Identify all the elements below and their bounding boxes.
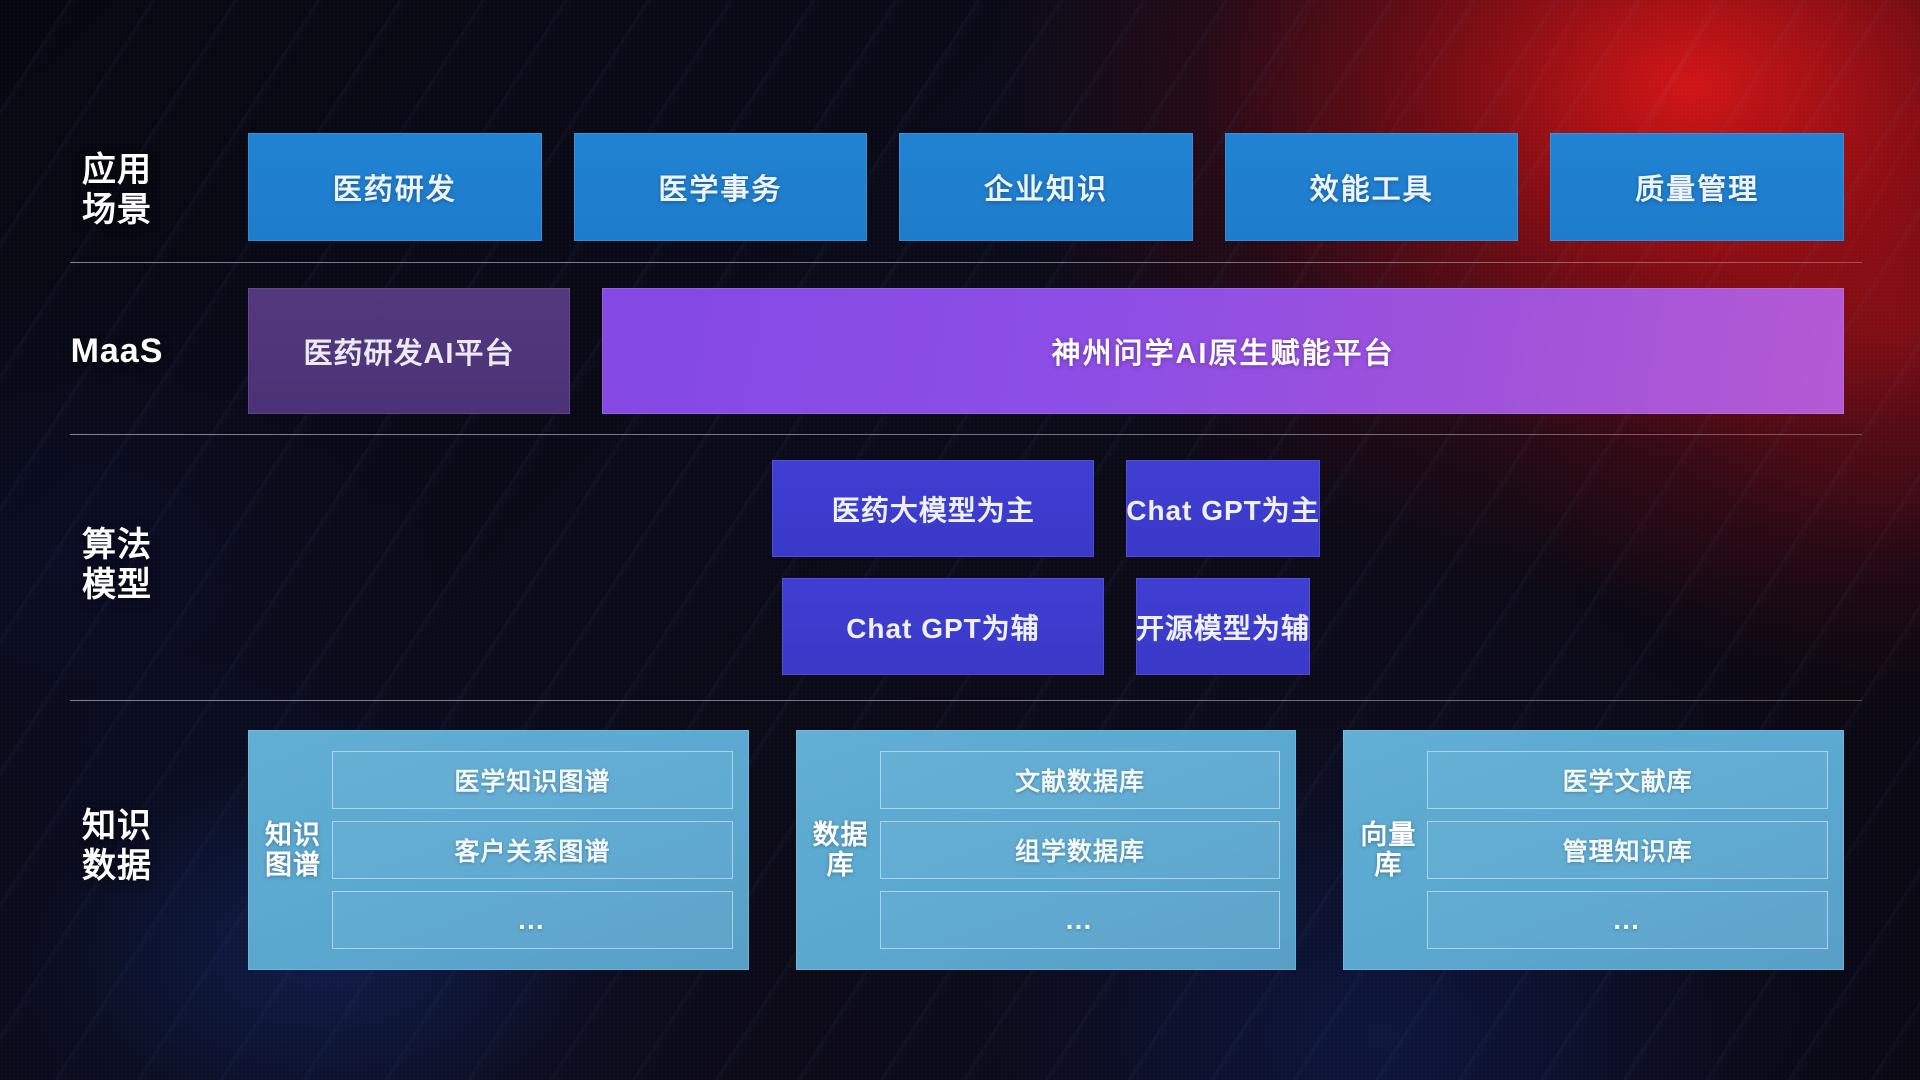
knowledge-item-vector-store-more[interactable]: …: [1427, 891, 1828, 949]
app-card-drug-rd[interactable]: 医药研发: [248, 133, 542, 241]
app-card-quality-management[interactable]: 质量管理: [1550, 133, 1844, 241]
knowledge-item-medical-knowledge-graph[interactable]: 医学知识图谱: [332, 751, 733, 809]
row-label-knowledge-data-line2: 数据: [32, 846, 202, 886]
divider-algo-knowledge: [70, 700, 1862, 701]
knowledge-item-omics-database[interactable]: 组学数据库: [880, 821, 1281, 879]
divider-apps-maas: [70, 262, 1862, 263]
row-label-applications-line1: 应用: [32, 150, 202, 190]
knowledge-item-management-knowledge-store[interactable]: 管理知识库: [1427, 821, 1828, 879]
algo-card-chatgpt-secondary[interactable]: Chat GPT为辅: [782, 578, 1104, 675]
row-label-applications-line2: 场景: [32, 190, 202, 230]
row-label-knowledge-data-line1: 知识: [32, 806, 202, 846]
maas-card-drug-rd-ai-platform[interactable]: 医药研发AI平台: [248, 288, 570, 414]
app-card-efficiency-tools[interactable]: 效能工具: [1225, 133, 1519, 241]
app-card-medical-affairs[interactable]: 医学事务: [574, 133, 868, 241]
knowledge-items-vector-store: 医学文献库 管理知识库 …: [1427, 751, 1828, 949]
diagram-canvas: 应用 场景 医药研发 医学事务 企业知识 效能工具 质量管理 MaaS 医药研发…: [0, 0, 1920, 1080]
row-label-knowledge-data: 知识 数据: [32, 806, 202, 886]
knowledge-item-literature-database[interactable]: 文献数据库: [880, 751, 1281, 809]
row-label-algorithm-models-line1: 算法: [32, 525, 202, 565]
knowledge-items-database: 文献数据库 组学数据库 …: [880, 751, 1281, 949]
knowledge-group-vector-store: 向量库 医学文献库 管理知识库 …: [1343, 730, 1844, 970]
knowledge-group-title-database: 数据库: [810, 820, 872, 880]
applications-row: 医药研发 医学事务 企业知识 效能工具 质量管理: [248, 133, 1844, 241]
knowledge-group-database: 数据库 文献数据库 组学数据库 …: [796, 730, 1297, 970]
knowledge-item-customer-relation-graph[interactable]: 客户关系图谱: [332, 821, 733, 879]
knowledge-item-medical-literature-store[interactable]: 医学文献库: [1427, 751, 1828, 809]
row-label-algorithm-models-line2: 模型: [32, 565, 202, 605]
knowledge-data-row: 知识图谱 医学知识图谱 客户关系图谱 … 数据库 文献数据库 组学数据库 … 向…: [248, 730, 1844, 970]
algorithm-models-line-primary: 医药大模型为主 Chat GPT为主: [772, 460, 1320, 557]
algo-card-pharma-large-model-primary[interactable]: 医药大模型为主: [772, 460, 1094, 557]
knowledge-group-knowledge-graph: 知识图谱 医学知识图谱 客户关系图谱 …: [248, 730, 749, 970]
row-label-algorithm-models: 算法 模型: [32, 525, 202, 605]
row-label-applications: 应用 场景: [32, 150, 202, 230]
divider-maas-algo: [70, 434, 1862, 435]
diagram-content: 应用 场景 医药研发 医学事务 企业知识 效能工具 质量管理 MaaS 医药研发…: [0, 0, 1920, 1080]
knowledge-group-title-vector-store: 向量库: [1357, 820, 1419, 880]
maas-card-shenzhou-wenxue-platform[interactable]: 神州问学AI原生赋能平台: [602, 288, 1844, 414]
algo-card-opensource-secondary[interactable]: 开源模型为辅: [1136, 578, 1310, 675]
algorithm-models-row: 医药大模型为主 Chat GPT为主 Chat GPT为辅 开源模型为辅: [248, 460, 1844, 675]
knowledge-items-knowledge-graph: 医学知识图谱 客户关系图谱 …: [332, 751, 733, 949]
algorithm-models-line-secondary: Chat GPT为辅 开源模型为辅: [782, 578, 1310, 675]
algo-card-chatgpt-primary[interactable]: Chat GPT为主: [1126, 460, 1320, 557]
row-label-maas: MaaS: [32, 331, 202, 371]
knowledge-item-knowledge-graph-more[interactable]: …: [332, 891, 733, 949]
maas-row: 医药研发AI平台 神州问学AI原生赋能平台: [248, 288, 1844, 414]
knowledge-group-title-knowledge-graph: 知识图谱: [262, 820, 324, 880]
knowledge-item-database-more[interactable]: …: [880, 891, 1281, 949]
app-card-enterprise-knowledge[interactable]: 企业知识: [899, 133, 1193, 241]
